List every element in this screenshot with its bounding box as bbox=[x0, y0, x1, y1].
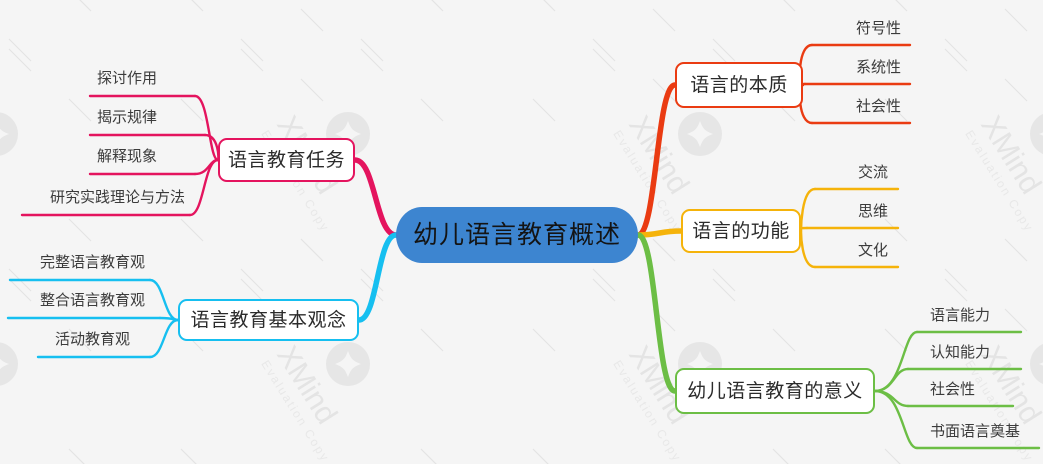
branch-edge bbox=[638, 235, 675, 391]
leaf-topic[interactable]: 思维 bbox=[858, 204, 888, 219]
central-topic-label: 幼儿语言教育概述 bbox=[413, 223, 621, 248]
leaf-topic[interactable]: 研究实践理论与方法 bbox=[50, 190, 185, 205]
branch-edge bbox=[801, 231, 815, 267]
branch-edge bbox=[150, 280, 178, 320]
leaf-topic[interactable]: 交流 bbox=[858, 165, 888, 180]
leaf-topic[interactable]: 语言能力 bbox=[930, 308, 990, 323]
leaf-topic[interactable]: 符号性 bbox=[856, 21, 901, 36]
leaf-topic[interactable]: 解释现象 bbox=[97, 149, 157, 164]
mindmap-canvas[interactable]: XMindEvaluation CopyXMindEvaluation Copy… bbox=[0, 0, 1043, 464]
branch-edge bbox=[638, 85, 675, 235]
branch-topic-label: 语言教育任务 bbox=[228, 151, 345, 170]
leaf-topic[interactable]: 完整语言教育观 bbox=[40, 255, 145, 270]
branch-topic-language-function[interactable]: 语言的功能 bbox=[681, 209, 801, 253]
branch-topic-early-childhood-significance[interactable]: 幼儿语言教育的意义 bbox=[675, 368, 875, 414]
branch-topic-label: 语言的本质 bbox=[690, 76, 788, 95]
central-topic[interactable]: 幼儿语言教育概述 bbox=[396, 207, 638, 263]
leaf-topic[interactable]: 认知能力 bbox=[930, 345, 990, 360]
leaf-topic[interactable]: 社会性 bbox=[930, 382, 975, 397]
leaf-topic[interactable]: 整合语言教育观 bbox=[40, 293, 145, 308]
branch-edge bbox=[190, 160, 218, 215]
leaf-topic[interactable]: 揭示规律 bbox=[97, 110, 157, 125]
leaf-topic[interactable]: 社会性 bbox=[856, 99, 901, 114]
branch-edge bbox=[195, 96, 218, 160]
branch-edge bbox=[359, 235, 396, 320]
branch-topic-language-nature[interactable]: 语言的本质 bbox=[675, 62, 803, 108]
branch-edge bbox=[150, 320, 178, 357]
leaf-topic[interactable]: 活动教育观 bbox=[55, 332, 130, 347]
branch-topic-education-tasks[interactable]: 语言教育任务 bbox=[218, 138, 355, 182]
branch-topic-label: 语言教育基本观念 bbox=[190, 311, 346, 330]
branch-topic-label: 语言的功能 bbox=[692, 222, 790, 241]
branch-edge bbox=[355, 160, 396, 235]
branch-topic-basic-concepts[interactable]: 语言教育基本观念 bbox=[178, 299, 359, 341]
branch-edge bbox=[875, 332, 917, 391]
leaf-topic[interactable]: 书面语言奠基 bbox=[930, 424, 1020, 439]
leaf-topic[interactable]: 系统性 bbox=[856, 60, 901, 75]
leaf-topic[interactable]: 文化 bbox=[858, 243, 888, 258]
branch-topic-label: 幼儿语言教育的意义 bbox=[687, 382, 863, 401]
leaf-topic[interactable]: 探讨作用 bbox=[97, 71, 157, 86]
branch-edge bbox=[801, 189, 815, 231]
